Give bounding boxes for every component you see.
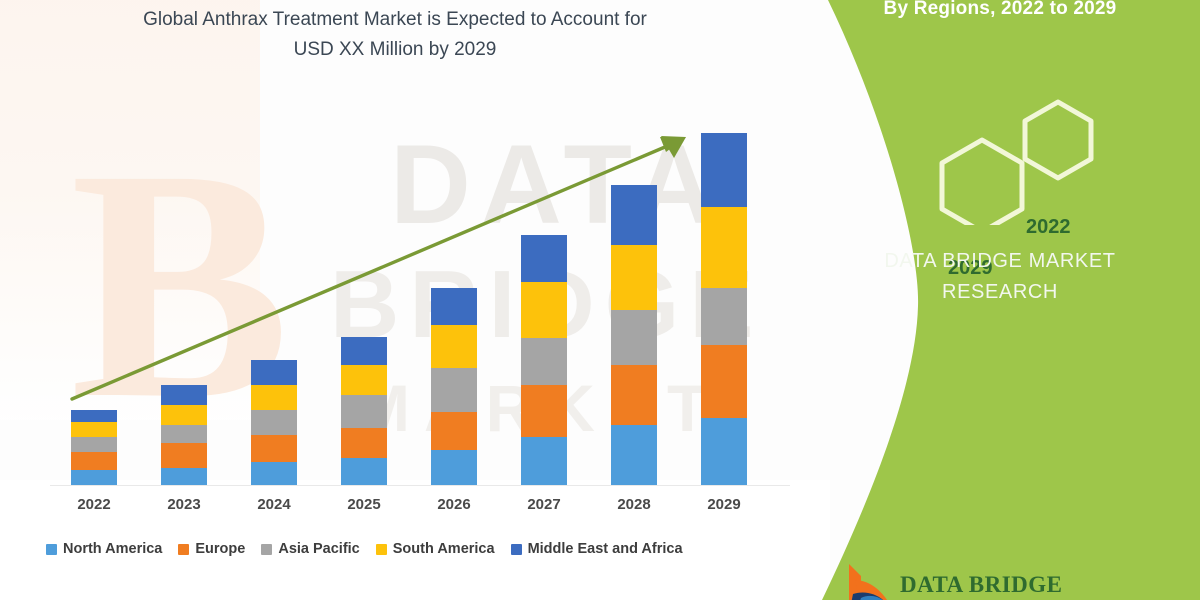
x-axis-label-2024: 2024 <box>234 496 314 513</box>
x-axis-label-2028: 2028 <box>594 496 674 513</box>
footer-brand-text: DATA BRIDGE <box>900 572 1062 600</box>
bar-segment[interactable] <box>611 185 657 245</box>
bar-column-2026[interactable] <box>431 288 477 485</box>
bar-segment[interactable] <box>341 458 387 485</box>
bar-segment[interactable] <box>611 245 657 310</box>
bar-segment[interactable] <box>341 337 387 365</box>
legend-label: Europe <box>195 541 245 557</box>
legend-item-1[interactable]: Europe <box>178 541 245 557</box>
bar-segment[interactable] <box>161 443 207 468</box>
bar-segment[interactable] <box>431 325 477 368</box>
bar-segment[interactable] <box>431 288 477 325</box>
bar-segment[interactable] <box>701 133 747 207</box>
legend-swatch-icon <box>511 544 522 555</box>
bar-segment[interactable] <box>161 385 207 405</box>
legend-label: Asia Pacific <box>278 541 359 557</box>
bar-segment[interactable] <box>161 405 207 425</box>
data-bridge-logo-icon <box>845 560 891 600</box>
bar-segment[interactable] <box>611 310 657 365</box>
bar-column-2024[interactable] <box>251 360 297 485</box>
infographic-canvas: B DATA BRIDGE MARKET Global Anthrax Trea… <box>0 0 1200 600</box>
bar-segment[interactable] <box>71 437 117 452</box>
bar-segment[interactable] <box>251 435 297 462</box>
hexagon-group: 2022 2029 <box>800 95 1200 225</box>
bar-segment[interactable] <box>71 452 117 470</box>
bar-segment[interactable] <box>161 425 207 443</box>
bar-segment[interactable] <box>521 235 567 282</box>
bar-segment[interactable] <box>251 462 297 485</box>
legend-swatch-icon <box>178 544 189 555</box>
legend-swatch-icon <box>261 544 272 555</box>
brand-name-line-1: DATA BRIDGE MARKET <box>800 250 1200 273</box>
bar-segment[interactable] <box>521 437 567 485</box>
bar-segment[interactable] <box>611 365 657 425</box>
bar-column-2025[interactable] <box>341 337 387 485</box>
brand-name-line-2: RESEARCH <box>800 281 1200 304</box>
x-axis-label-2022: 2022 <box>54 496 134 513</box>
bar-column-2028[interactable] <box>611 185 657 485</box>
bar-segment[interactable] <box>251 410 297 435</box>
legend-item-4[interactable]: Middle East and Africa <box>511 541 683 557</box>
bar-column-2022[interactable] <box>71 410 117 485</box>
chart-legend: North AmericaEuropeAsia PacificSouth Ame… <box>46 541 683 557</box>
bar-column-2029[interactable] <box>701 133 747 485</box>
x-axis-label-2023: 2023 <box>144 496 224 513</box>
bar-segment[interactable] <box>431 450 477 485</box>
bar-segment[interactable] <box>161 468 207 485</box>
x-axis-label-2027: 2027 <box>504 496 584 513</box>
brand-panel: By Regions, 2022 to 2029 2022 2029 DATA … <box>800 0 1200 600</box>
bar-segment[interactable] <box>431 412 477 450</box>
bar-segment[interactable] <box>701 345 747 418</box>
hexagon-label-start: 2022 <box>1026 216 1071 239</box>
bar-segment[interactable] <box>701 207 747 288</box>
x-axis-label-2026: 2026 <box>414 496 494 513</box>
bar-segment[interactable] <box>701 288 747 345</box>
bar-segment[interactable] <box>521 385 567 437</box>
bar-segment[interactable] <box>431 368 477 412</box>
bar-segment[interactable] <box>701 418 747 485</box>
legend-swatch-icon <box>376 544 387 555</box>
legend-label: North America <box>63 541 162 557</box>
bar-segment[interactable] <box>71 422 117 437</box>
bar-column-2023[interactable] <box>161 385 207 485</box>
legend-item-3[interactable]: South America <box>376 541 495 557</box>
bar-segment[interactable] <box>341 428 387 458</box>
legend-label: South America <box>393 541 495 557</box>
bar-segment[interactable] <box>341 395 387 428</box>
bar-segment[interactable] <box>611 425 657 485</box>
footer-logo: DATA BRIDGE <box>845 560 1062 600</box>
legend-swatch-icon <box>46 544 57 555</box>
bar-segment[interactable] <box>251 360 297 385</box>
bar-segment[interactable] <box>71 470 117 485</box>
legend-item-2[interactable]: Asia Pacific <box>261 541 359 557</box>
panel-heading: By Regions, 2022 to 2029 <box>800 0 1200 20</box>
bar-segment[interactable] <box>341 365 387 395</box>
x-axis-label-2025: 2025 <box>324 496 404 513</box>
bar-segment[interactable] <box>521 282 567 338</box>
chart-plot-area: 20222023202420252026202720282029 <box>0 0 830 600</box>
bar-column-2027[interactable] <box>521 235 567 485</box>
x-axis-label-2029: 2029 <box>684 496 764 513</box>
bar-segment[interactable] <box>251 385 297 410</box>
legend-label: Middle East and Africa <box>528 541 683 557</box>
bar-segment[interactable] <box>71 410 117 422</box>
legend-item-0[interactable]: North America <box>46 541 162 557</box>
bar-segment[interactable] <box>521 338 567 385</box>
hexagon-icons <box>800 95 1200 225</box>
